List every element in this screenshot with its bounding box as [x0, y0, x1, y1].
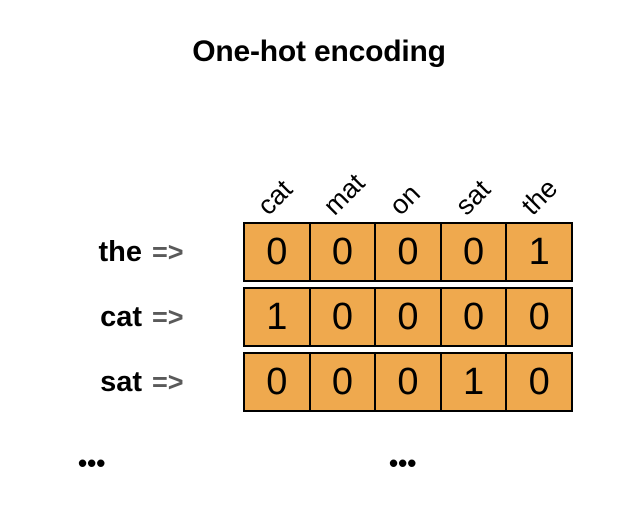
maps-to-icon: =>	[152, 287, 232, 347]
row-vector: 0 0 0 0 1	[243, 222, 573, 282]
row-label-word: cat	[20, 287, 142, 347]
matrix-cell: 0	[245, 354, 311, 410]
matrix-cell: 0	[442, 224, 508, 280]
maps-to-icon: =>	[152, 222, 232, 282]
matrix-cell: 0	[376, 354, 442, 410]
row-vector: 1 0 0 0 0	[243, 287, 573, 347]
matrix-cell: 1	[245, 289, 311, 345]
matrix-cell: 0	[311, 354, 377, 410]
column-header-label: on	[385, 180, 425, 220]
column-header-3: sat	[441, 125, 507, 220]
matrix-cell: 0	[507, 289, 571, 345]
column-header-2: on	[375, 125, 441, 220]
column-header-0: cat	[243, 125, 309, 220]
row-label-word: sat	[20, 352, 142, 412]
column-header-label: mat	[319, 169, 370, 220]
matrix-cell: 0	[442, 289, 508, 345]
column-header-label: sat	[451, 175, 496, 220]
page-title: One-hot encoding	[0, 35, 638, 69]
matrix-cell: 0	[376, 224, 442, 280]
matrix-cell: 1	[507, 224, 571, 280]
column-header-4: the	[507, 125, 573, 220]
matrix-cell: 0	[376, 289, 442, 345]
matrix-cell: 1	[442, 354, 508, 410]
matrix-cell: 0	[245, 224, 311, 280]
column-header-row: cat mat on sat the	[243, 125, 573, 220]
column-header-label: cat	[253, 175, 298, 220]
row-label-word: the	[20, 222, 142, 282]
column-header-1: mat	[309, 125, 375, 220]
matrix-cell: 0	[311, 224, 377, 280]
column-header-label: the	[517, 174, 563, 220]
row-vector: 0 0 0 1 0	[243, 352, 573, 412]
maps-to-icon: =>	[152, 352, 232, 412]
rows-ellipsis: •••	[78, 450, 105, 476]
matrix-cell: 0	[311, 289, 377, 345]
cells-ellipsis: •••	[389, 450, 416, 476]
matrix-cell: 0	[507, 354, 571, 410]
